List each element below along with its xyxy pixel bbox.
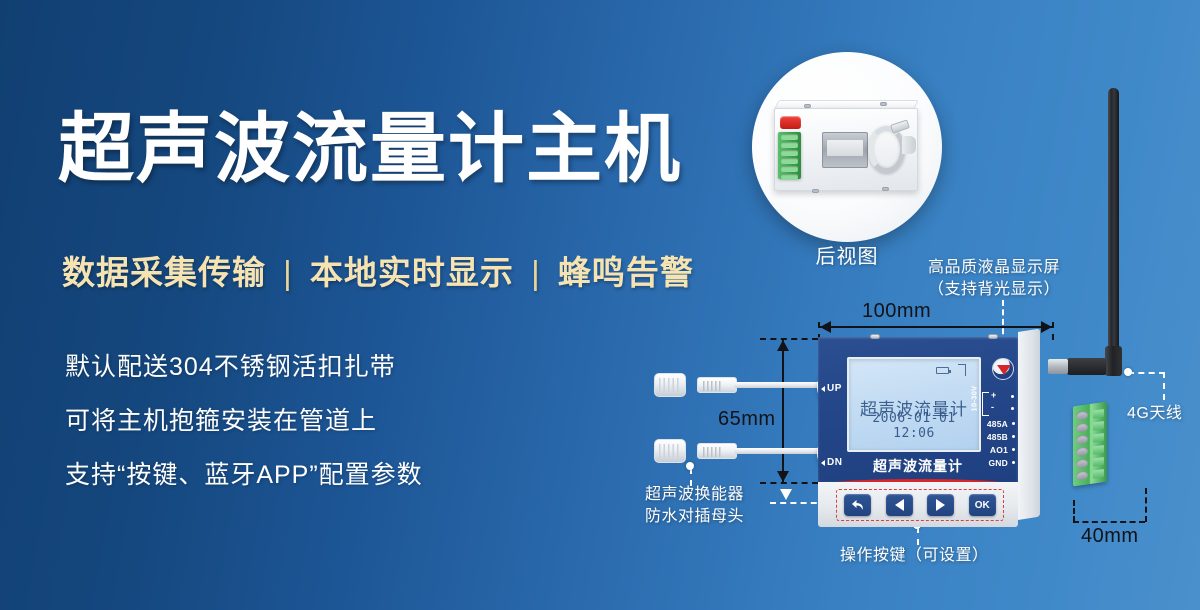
back-button[interactable] <box>844 494 871 516</box>
transducer-nut <box>654 439 686 463</box>
feature-item: 默认配送304不锈钢活扣扎带 <box>65 355 423 380</box>
ok-button-label: OK <box>975 500 990 511</box>
callout-transducer: 超声波换能器 防水对插母头 <box>645 484 744 527</box>
page-title: 超声波流量计主机 <box>58 112 682 188</box>
leader-line-keys <box>917 527 919 545</box>
back-arrow-icon <box>851 499 865 511</box>
transducer-ribbed-grip <box>697 443 737 459</box>
rear-view-screw <box>880 102 887 106</box>
port-up-text: UP <box>827 383 842 394</box>
device-front-panel: 超声波流量计 2006-01-01 12:06 UP DN 10-30V <box>818 337 1018 482</box>
dimension-arrow-left <box>820 321 831 333</box>
flow-meter-device: 超声波流量计 2006-01-01 12:06 UP DN 10-30V <box>818 337 1040 527</box>
terminal-pin <box>1012 422 1015 425</box>
terminal-pin <box>1011 395 1014 398</box>
terminal-label: 485B <box>987 432 1008 442</box>
terminal-row: 485B <box>971 430 1015 443</box>
keypad: OK <box>836 489 1004 521</box>
dimension-depth-label: 40mm <box>1081 525 1139 548</box>
brand-logo <box>990 358 1015 388</box>
brand-logo-text <box>991 381 1015 386</box>
terminal-pin <box>1012 448 1015 451</box>
power-terminal-group: 10-30V + - <box>971 391 1015 417</box>
dimension-line-depth <box>1073 521 1145 523</box>
rear-view-photo <box>752 52 942 242</box>
subtitle: 数据采集传输 | 本地实时显示 | 蜂鸣告警 <box>62 246 694 294</box>
rear-view-cable-gland <box>902 136 916 154</box>
terminal-pin <box>1011 407 1014 410</box>
banner-stage: 超声波流量计主机 数据采集传输 | 本地实时显示 | 蜂鸣告警 默认配送304不… <box>0 0 1200 610</box>
dimension-guide-depth-left <box>1073 500 1075 522</box>
subtitle-separator-2: | <box>524 254 548 291</box>
port-label-up: UP <box>821 383 842 394</box>
rear-view-red-cap <box>780 116 801 129</box>
subtitle-part-1: 数据采集传输 <box>62 254 266 291</box>
dimension-guide-top <box>760 338 818 340</box>
rear-view-screw <box>882 187 889 191</box>
dimension-arrow-up <box>777 340 789 351</box>
dimension-height-label: 65mm <box>718 408 776 431</box>
device-side-panel <box>1018 329 1040 520</box>
transducer-ribbed-grip <box>697 377 737 393</box>
feature-item: 可将主机抱箍安装在管道上 <box>65 409 423 434</box>
dimension-width-label: 100mm <box>862 300 931 323</box>
triangle-icon <box>821 386 825 392</box>
terminal-label: AO1 <box>990 445 1008 455</box>
transducer-cable <box>734 382 822 388</box>
right-arrow-icon <box>936 499 945 511</box>
rear-view-hose-clamp <box>868 126 905 173</box>
bracket-icon <box>982 392 989 416</box>
rear-view-screw <box>812 189 819 193</box>
antenna-sma-connector <box>1048 359 1068 374</box>
callout-keys: 操作按键（可设置） <box>840 545 989 567</box>
terminal-row: 485A <box>971 417 1015 430</box>
device-screw <box>988 334 998 339</box>
transducer-nut <box>654 373 686 397</box>
dimension-arrow-right <box>1041 321 1052 333</box>
callout-antenna: 4G天线 <box>1127 403 1182 425</box>
brand-logo-icon <box>992 358 1014 380</box>
terminal-minus: - <box>991 402 994 412</box>
leader-arrow-transducer <box>780 489 792 500</box>
terminal-row: AO1 <box>971 443 1015 456</box>
left-arrow-icon <box>895 499 904 511</box>
rear-view-green-terminal <box>778 132 801 179</box>
antenna-rod <box>1108 88 1119 350</box>
dimension-guide-depth-right <box>1145 488 1147 522</box>
dimension-line-width <box>820 326 1052 328</box>
rear-view-screw <box>804 104 811 108</box>
battery-icon <box>936 367 949 374</box>
lcd-datetime-text: 2006-01-01 12:06 <box>849 411 979 441</box>
green-terminal-block <box>1073 402 1107 487</box>
terminal-pin <box>1012 435 1015 438</box>
left-button[interactable] <box>886 494 913 516</box>
dimension-guide-bottom <box>760 482 818 484</box>
antenna-4g <box>1100 88 1126 388</box>
feature-item: 支持“按键、蓝牙APP”配置参数 <box>65 463 423 488</box>
antenna-elbow <box>1066 358 1106 375</box>
rear-view-mount-bracket <box>822 132 868 168</box>
transducer-cable <box>734 448 822 454</box>
right-button[interactable] <box>927 494 954 516</box>
leader-line-antenna-v <box>1163 372 1165 400</box>
ok-button[interactable]: OK <box>969 494 996 516</box>
dimension-guide-right <box>1052 322 1054 340</box>
terminal-plus: + <box>991 390 996 400</box>
terminal-label: 485A <box>987 419 1008 429</box>
callout-lcd-line2: （支持背光显示） <box>928 279 1060 301</box>
subtitle-separator-1: | <box>276 254 300 291</box>
signal-bracket-icon <box>958 364 966 376</box>
device-model-label: 超声波流量计 <box>818 456 1018 476</box>
callout-lcd: 高品质液晶显示屏 （支持背光显示） <box>928 257 1060 300</box>
feature-list: 默认配送304不锈钢活扣扎带 可将主机抱箍安装在管道上 支持“按键、蓝牙APP”… <box>65 355 423 517</box>
callout-transducer-line1: 超声波换能器 <box>645 484 744 506</box>
rear-view-inset: 后视图 <box>752 52 942 242</box>
rear-view-caption: 后视图 <box>752 240 942 269</box>
voltage-label: 10-30V <box>970 386 979 412</box>
callout-lcd-line1: 高品质液晶显示屏 <box>928 257 1060 279</box>
callout-transducer-line2: 防水对插母头 <box>645 506 744 528</box>
antenna-hinge <box>1105 346 1122 376</box>
leader-line-antenna-h <box>1128 372 1165 374</box>
subtitle-part-2: 本地实时显示 <box>310 254 514 291</box>
device-screw <box>870 334 880 339</box>
lcd-display: 超声波流量计 2006-01-01 12:06 <box>847 357 981 452</box>
subtitle-part-3: 蜂鸣告警 <box>558 254 694 291</box>
